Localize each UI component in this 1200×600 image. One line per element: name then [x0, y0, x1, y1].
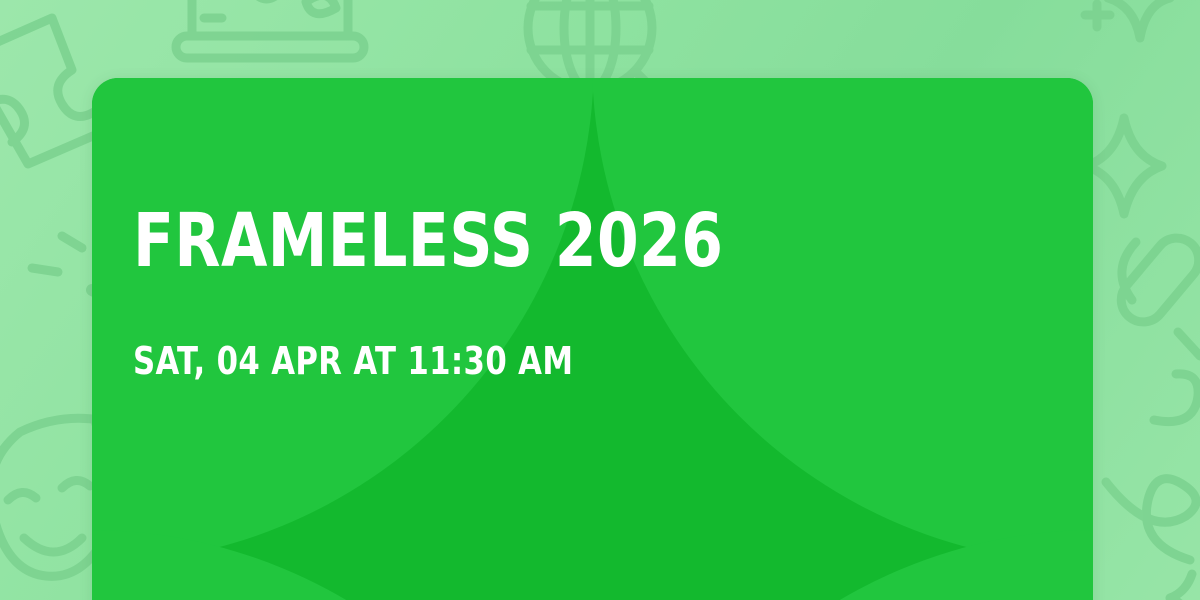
event-card-banner: FRAMELESS 2026 SAT, 04 APR AT 11:30 AM	[0, 0, 1200, 600]
streamer-ribbon-icon	[1106, 374, 1198, 560]
card-text-block: FRAMELESS 2026 SAT, 04 APR AT 11:30 AM	[133, 78, 1053, 600]
laptop-presentation-icon	[176, 0, 364, 58]
event-title: FRAMELESS 2026	[133, 204, 723, 278]
sparkle-icon	[1086, 118, 1162, 214]
confetti-dot-icon	[32, 236, 96, 292]
event-datetime: SAT, 04 APR AT 11:30 AM	[133, 342, 573, 380]
sparkle-icon	[1170, 574, 1192, 600]
sparkle-icon	[1085, 0, 1170, 38]
microphone-icon	[1112, 229, 1200, 356]
event-card[interactable]: FRAMELESS 2026 SAT, 04 APR AT 11:30 AM	[92, 78, 1093, 600]
